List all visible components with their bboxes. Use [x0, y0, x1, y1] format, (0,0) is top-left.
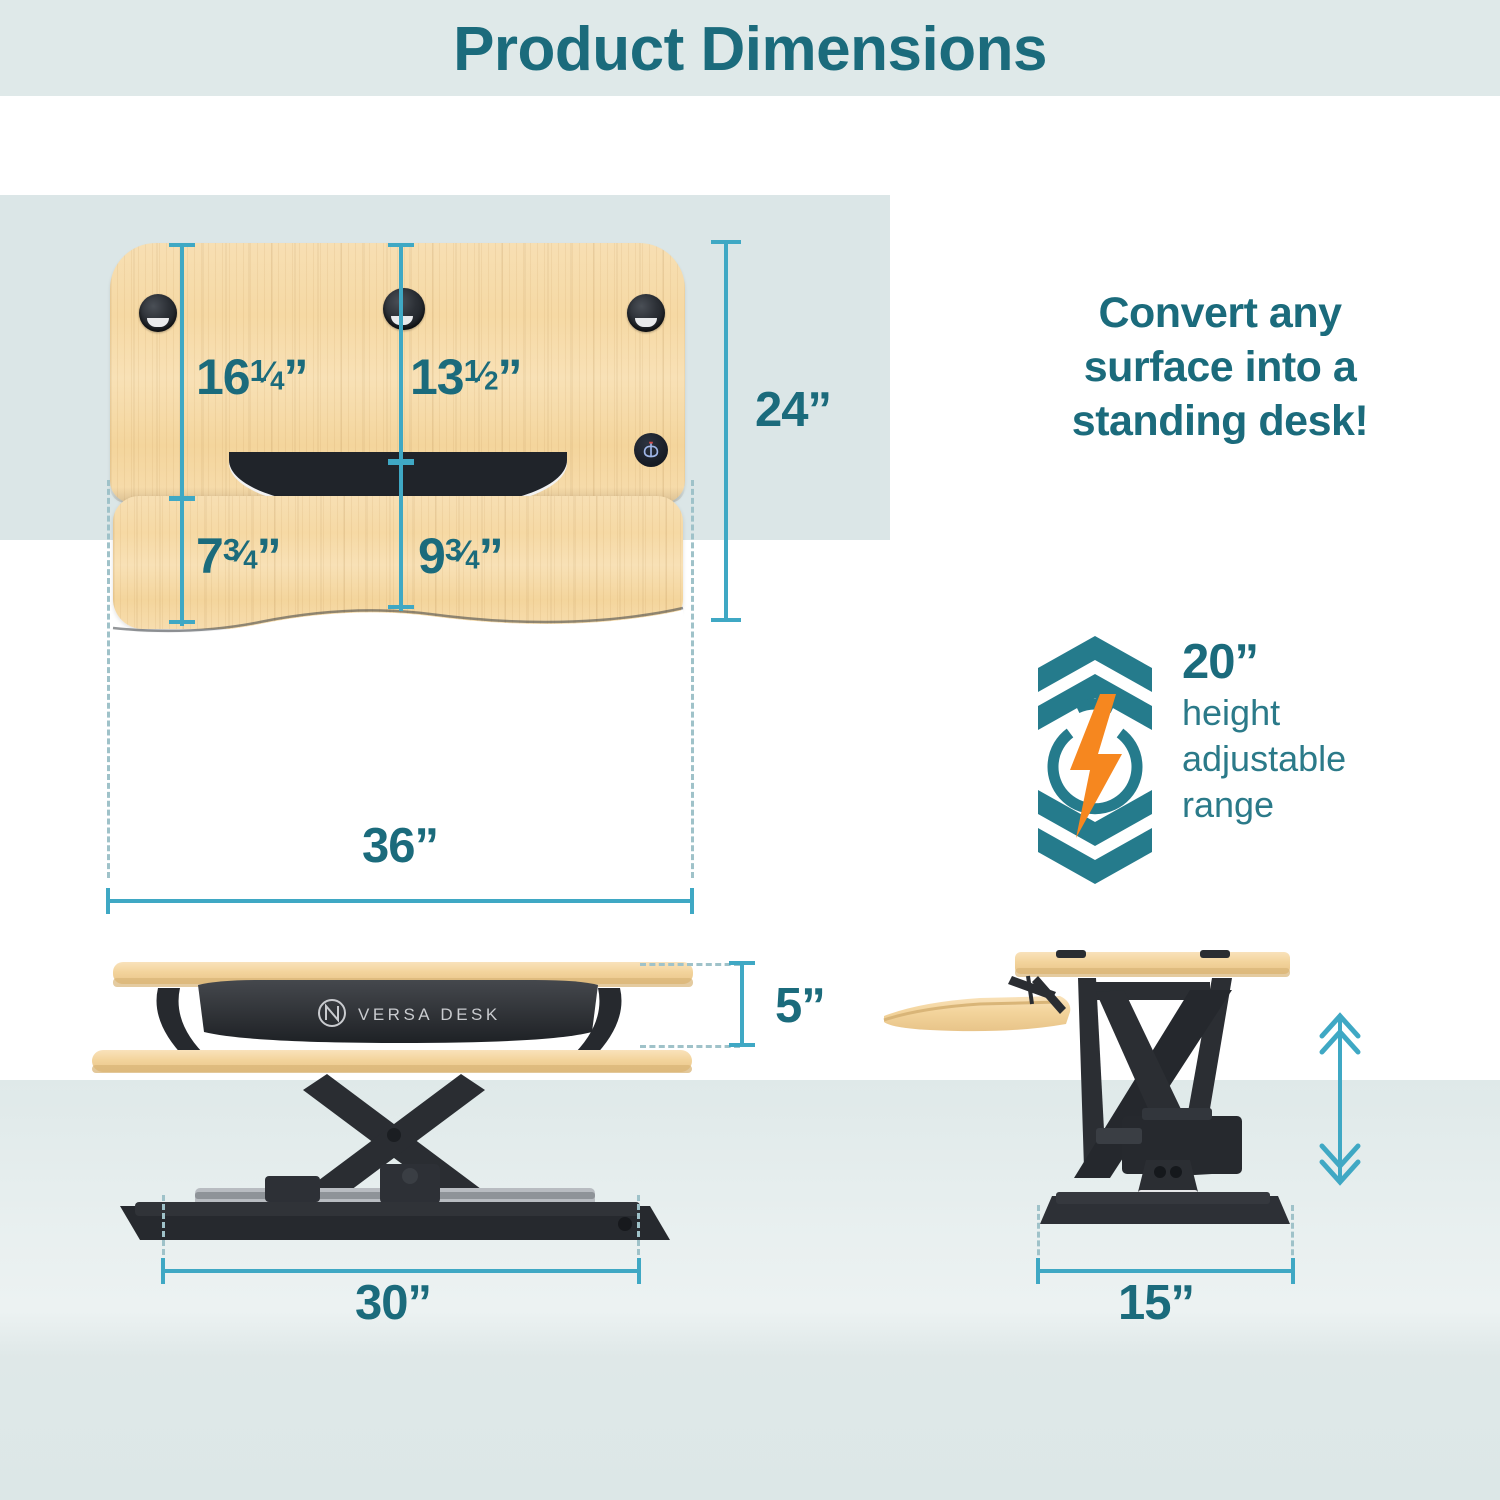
tagline-line-1: Convert any — [1010, 286, 1430, 340]
side-view-brand-text: VERSA DESK — [358, 1005, 501, 1024]
dim-164-line — [180, 245, 184, 503]
dim-24-cap-bottom — [711, 618, 741, 622]
page-title: Product Dimensions — [0, 4, 1500, 96]
dim-934-cap-bottom — [388, 605, 414, 609]
dim-5-ext-top — [640, 963, 740, 966]
dim-15-cap-right — [1291, 1258, 1295, 1284]
tagline-block: Convert any surface into a standing desk… — [1010, 286, 1430, 448]
dim-label-36: 36” — [362, 818, 438, 874]
tagline-line-3: standing desk! — [1010, 394, 1430, 448]
dim-30-line — [163, 1269, 639, 1273]
dim-15-line — [1038, 1269, 1293, 1273]
height-adjust-chevrons-lightning-icon — [1030, 628, 1160, 886]
dim-734-cap-bottom — [169, 620, 195, 624]
dim-5-line — [740, 963, 744, 1047]
tagline-line-2: surface into a — [1010, 340, 1430, 394]
infographic-canvas: Product Dimensions 161⁄4” 131⁄2” 73⁄4” 9… — [0, 0, 1500, 1500]
grommet-center-icon — [383, 288, 425, 330]
height-badge-line-3: range — [1182, 782, 1432, 828]
dim-label-5: 5” — [775, 978, 825, 1034]
dim-36-line — [108, 899, 694, 903]
height-range-double-arrow-icon — [1300, 1000, 1390, 1200]
height-badge-value: 20” — [1182, 634, 1432, 690]
dim-label-13-1-2: 131⁄2” — [410, 348, 521, 406]
dim-36-cap-right — [690, 888, 694, 914]
dim-label-30: 30” — [355, 1275, 431, 1331]
height-badge-text: 20” height adjustable range — [1182, 634, 1432, 828]
dim-label-9-3-4: 93⁄4” — [418, 527, 503, 585]
dim-label-7-3-4: 73⁄4” — [196, 527, 281, 585]
dim-36-ext-left — [107, 480, 110, 878]
height-badge-line-1: height — [1182, 690, 1432, 736]
versadesk-leaf-logo-icon — [634, 433, 668, 467]
dim-934-line — [399, 461, 403, 611]
side-view-front: VERSA DESK — [80, 940, 740, 1250]
side-view-side — [860, 930, 1340, 1250]
dim-30-cap-right — [637, 1258, 641, 1284]
dim-5-ext-bottom — [640, 1045, 740, 1048]
dim-label-15: 15” — [1118, 1275, 1194, 1331]
dim-label-24: 24” — [755, 382, 831, 438]
dim-24-line — [724, 242, 728, 622]
dim-label-16-1-4: 161⁄4” — [196, 348, 307, 406]
height-badge-line-2: adjustable — [1182, 736, 1432, 782]
height-adjustable-badge: 20” height adjustable range — [1030, 628, 1430, 888]
dim-135-line — [399, 245, 403, 467]
dim-5-cap-bottom — [729, 1043, 755, 1047]
grommet-right-icon — [627, 294, 665, 332]
grommet-left-icon — [139, 294, 177, 332]
dim-734-line — [180, 498, 184, 626]
dim-36-ext-right — [691, 480, 694, 878]
